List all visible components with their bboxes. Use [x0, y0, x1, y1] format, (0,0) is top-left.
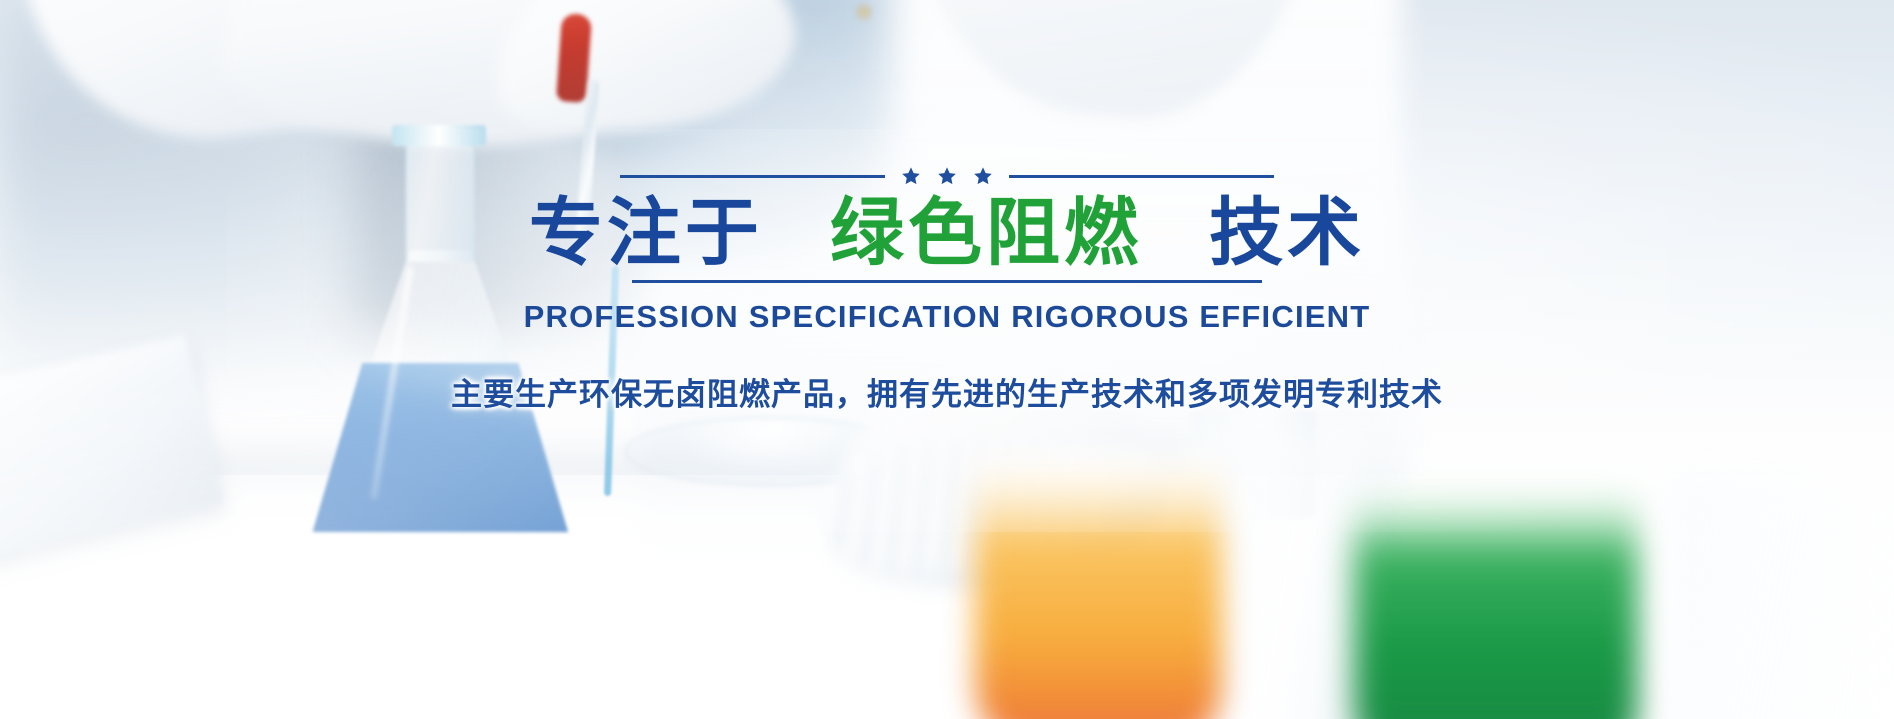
headline-part-one: 专注于 [529, 191, 763, 274]
subtitle-english: PROFESSION SPECIFICATION RIGOROUS EFFICI… [0, 299, 1894, 335]
banner-text-block: 专注于 绿色阻燃 技术 PROFESSION SPECIFICATION RIG… [0, 162, 1894, 414]
star-icon [973, 166, 993, 186]
star-group [901, 166, 993, 186]
page-title: 专注于 绿色阻燃 技术 [0, 194, 1894, 272]
star-divider [0, 162, 1894, 190]
divider-rule-right [1009, 175, 1274, 178]
headline-part-two: 绿色阻燃 [830, 191, 1142, 274]
hero-banner: 专注于 绿色阻燃 技术 PROFESSION SPECIFICATION RIG… [0, 0, 1894, 719]
star-icon [937, 166, 957, 186]
headline-part-three: 技术 [1209, 191, 1365, 274]
divider-rule-left [620, 175, 885, 178]
star-icon [901, 166, 921, 186]
title-underline [632, 280, 1262, 283]
foreground-clear-beaker-icon [1667, 475, 1894, 719]
tagline-chinese: 主要生产环保无卤阻燃产品，拥有先进的生产技术和多项发明专利技术 [0, 369, 1894, 414]
